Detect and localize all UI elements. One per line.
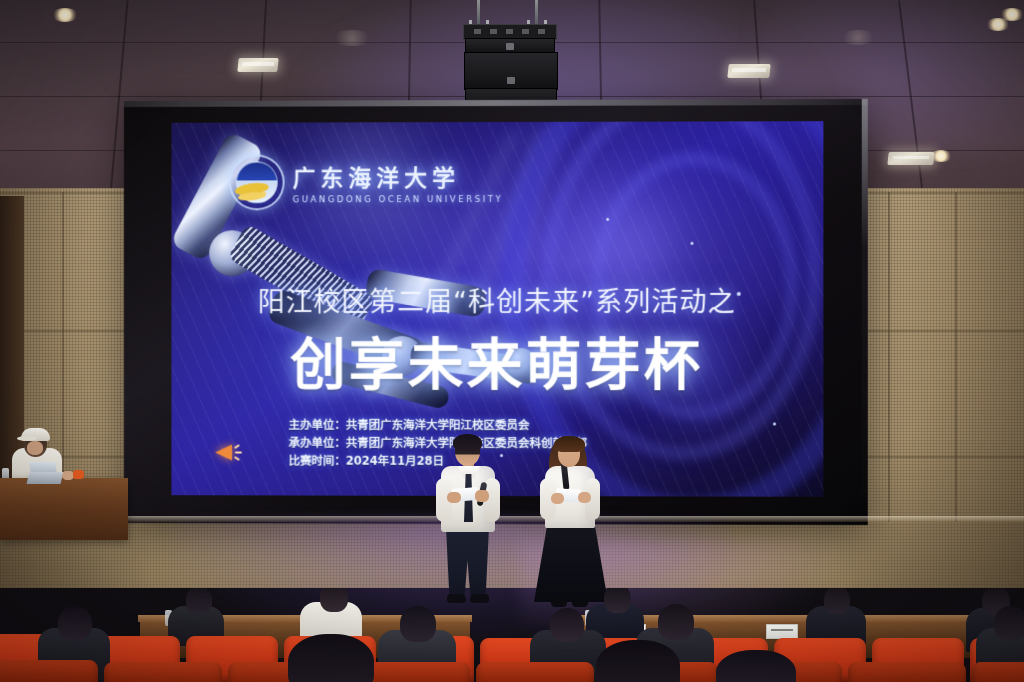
audience-head <box>824 588 850 614</box>
audience-head-foreground <box>716 650 796 682</box>
auditorium-seat <box>476 662 594 682</box>
university-name-cn: 广东海洋大学 <box>293 159 504 193</box>
audience-head-foreground <box>288 634 374 682</box>
downlight-icon <box>52 8 78 22</box>
male-host-hand <box>475 490 489 502</box>
sparkle-dot <box>606 218 609 221</box>
downlight-icon <box>986 18 1010 31</box>
slide-meta-organizer: 主办单位：共青团广东海洋大学阳江校区委员会 <box>289 416 587 434</box>
auditorium-seat <box>0 660 98 682</box>
male-host-hair <box>453 434 482 451</box>
presentation-slide[interactable]: 广东海洋大学 GUANGDONG OCEAN UNIVERSITY 阳江校区第二… <box>171 121 823 497</box>
operator-face <box>27 441 43 455</box>
slide-subtitle: 阳江校区第二届“科创未来”系列活动之 <box>171 280 823 319</box>
audience-head <box>550 608 584 642</box>
sparkle-dot <box>690 242 693 245</box>
downlight-icon <box>330 30 374 46</box>
downlight-icon <box>838 30 878 45</box>
university-logo: 广东海洋大学 GUANGDONG OCEAN UNIVERSITY <box>229 154 503 210</box>
speaker-cabinet-upper <box>464 52 558 90</box>
slide-meta-date: 比赛时间：2024年11月28日 <box>289 452 587 471</box>
led-screen-frame: 广东海洋大学 GUANGDONG OCEAN UNIVERSITY 阳江校区第二… <box>124 99 868 525</box>
audience-head-foreground <box>596 640 680 682</box>
university-crest-icon <box>229 154 285 210</box>
slide-main-title: 创享未来萌芽杯 <box>171 320 823 401</box>
female-host-hand <box>551 493 564 504</box>
operator-desk <box>0 478 128 540</box>
auditorium-scene: 广东海洋大学 GUANGDONG OCEAN UNIVERSITY 阳江校区第二… <box>0 0 1024 682</box>
university-name-en: GUANGDONG OCEAN UNIVERSITY <box>293 195 504 205</box>
audience-head <box>58 606 92 640</box>
bezel-highlight-top <box>124 99 868 107</box>
female-host-hand <box>578 492 591 503</box>
linear-troffer-icon <box>887 152 934 165</box>
audience-area <box>0 588 1024 682</box>
operator-handheld-item <box>73 470 84 479</box>
male-host-hand <box>447 492 461 503</box>
sparkle-dot <box>773 422 776 425</box>
name-card <box>766 624 798 639</box>
operator-cap <box>21 428 50 441</box>
slide-meta-host-unit: 承办单位：共青团广东海洋大学阳江校区委员会科创就业部 <box>289 434 587 453</box>
auditorium-seat <box>104 662 222 682</box>
female-host-hair <box>554 436 585 452</box>
audience-head <box>400 606 436 642</box>
linear-troffer-icon <box>237 58 278 72</box>
audience-head <box>186 588 212 614</box>
linear-troffer-icon <box>727 64 770 78</box>
audience-head <box>994 606 1024 640</box>
auditorium-seat <box>972 662 1024 682</box>
auditorium-seat <box>848 662 966 682</box>
megaphone-icon <box>215 442 241 464</box>
audience-head <box>604 588 631 613</box>
laptop-base <box>27 472 64 484</box>
slide-meta-block: 主办单位：共青团广东海洋大学阳江校区委员会 承办单位：共青团广东海洋大学阳江校区… <box>289 416 587 470</box>
audience-head <box>320 588 348 612</box>
bezel-highlight-right <box>862 99 868 525</box>
audience-head <box>658 604 694 640</box>
